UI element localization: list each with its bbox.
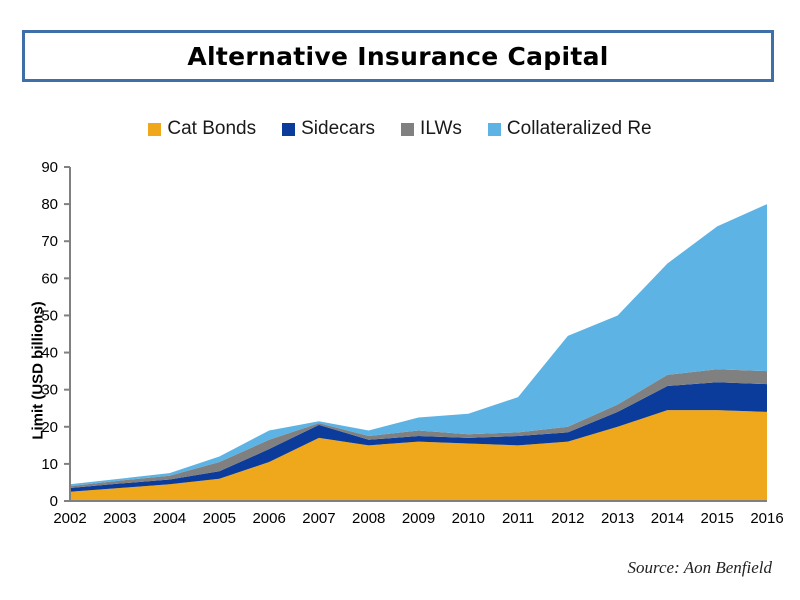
title-box: Alternative Insurance Capital [22, 30, 774, 82]
legend-label-collateralized-re: Collateralized Re [507, 118, 652, 140]
legend-swatch-cat-bonds [148, 123, 161, 136]
chart-legend: Cat Bonds Sidecars ILWs Collateralized R… [0, 118, 800, 140]
legend-item-sidecars: Sidecars [282, 118, 375, 140]
x-tick-label: 2006 [252, 510, 285, 527]
legend-label-ilws: ILWs [420, 118, 462, 140]
legend-item-collateralized-re: Collateralized Re [488, 118, 652, 140]
chart-area: Limit (USD billions) 0102030405060708090… [0, 150, 800, 550]
legend-swatch-collateralized-re [488, 123, 501, 136]
legend-label-sidecars: Sidecars [301, 118, 375, 140]
x-tick-label: 2010 [452, 510, 485, 527]
legend-item-ilws: ILWs [401, 118, 462, 140]
x-tick-label: 2016 [750, 510, 783, 527]
y-tick-label: 90 [41, 159, 58, 176]
x-tick-label: 2002 [53, 510, 86, 527]
legend-item-cat-bonds: Cat Bonds [148, 118, 256, 140]
y-tick-label: 80 [41, 196, 58, 213]
legend-swatch-ilws [401, 123, 414, 136]
series-areas [70, 204, 767, 501]
page-title: Alternative Insurance Capital [187, 42, 608, 71]
legend-swatch-sidecars [282, 123, 295, 136]
x-tick-label: 2004 [153, 510, 186, 527]
x-tick-label: 2005 [203, 510, 236, 527]
x-tick-label: 2012 [551, 510, 584, 527]
x-tick-label: 2007 [302, 510, 335, 527]
x-tick-labels: 2002200320042005200620072008200920102011… [53, 510, 783, 527]
x-tick-label: 2011 [502, 510, 534, 527]
x-tick-label: 2009 [402, 510, 435, 527]
y-axis-title: Limit (USD billions) [30, 221, 47, 521]
x-tick-label: 2013 [601, 510, 634, 527]
source-note: Source: Aon Benfield [628, 558, 772, 578]
x-tick-label: 2014 [651, 510, 684, 527]
y-tick-label: 0 [50, 493, 58, 510]
x-tick-label: 2015 [701, 510, 734, 527]
legend-label-cat-bonds: Cat Bonds [167, 118, 256, 140]
x-tick-label: 2008 [352, 510, 385, 527]
x-tick-label: 2003 [103, 510, 136, 527]
stacked-area-chart: 0102030405060708090 20022003200420052006… [0, 150, 800, 550]
